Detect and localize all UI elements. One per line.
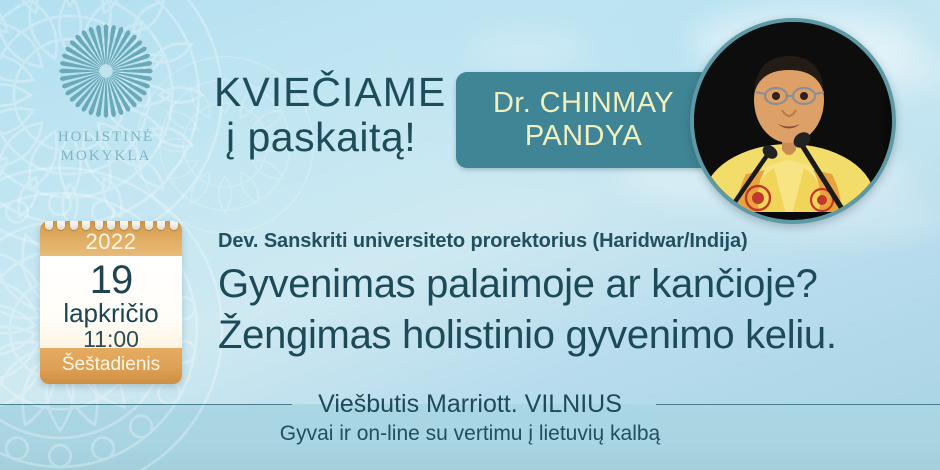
lecture-subtitle: Dev. Sanskriti universiteto prorektorius…: [218, 230, 748, 253]
speaker-name-badge: Dr. CHINMAY PANDYA: [456, 72, 711, 168]
headline-line-1: KVIEČIAME: [214, 70, 446, 114]
lecture-title-line-1: Gyvenimas palaimoje ar kančioje?: [218, 262, 818, 306]
brand-logo: HOLISTINĖ MOKYKLA: [28, 18, 184, 168]
calendar-binding-rings: [40, 221, 182, 229]
cloud-shape: [470, 30, 590, 70]
calendar-day: 19: [40, 256, 182, 300]
speaker-name-line-1: Dr. CHINMAY: [493, 87, 674, 120]
headline-line-2: į paskaitą!: [214, 114, 446, 160]
calendar-month: lapkričio: [40, 300, 182, 327]
lecture-title-line-2: Žengimas holistinio gyvenimo keliu.: [218, 313, 837, 357]
speaker-portrait-photo: [690, 18, 896, 224]
calendar-body: 19 lapkričio 11:00: [40, 256, 182, 348]
speaker-portrait-illustration: [694, 22, 884, 212]
starburst-icon: [48, 18, 164, 124]
logo-line-1: HOLISTINĖ: [28, 128, 184, 147]
logo-line-2: MOKYKLA: [28, 147, 184, 166]
tagline-text: Gyvai ir on-line su vertimu į lietuvių k…: [0, 420, 940, 448]
speaker-name-line-2: PANDYA: [525, 120, 642, 153]
calendar-weekday: Šeštadienis: [40, 348, 182, 384]
invitation-headline: KVIEČIAME į paskaitą!: [214, 70, 446, 160]
venue-text: Viešbutis Marriott. VILNIUS: [0, 388, 940, 420]
event-date-calendar: 2022 19 lapkričio 11:00 Šeštadienis: [40, 221, 182, 384]
event-poster: HOLISTINĖ MOKYKLA 2022 19 lapkričio 11:0…: [0, 0, 940, 470]
